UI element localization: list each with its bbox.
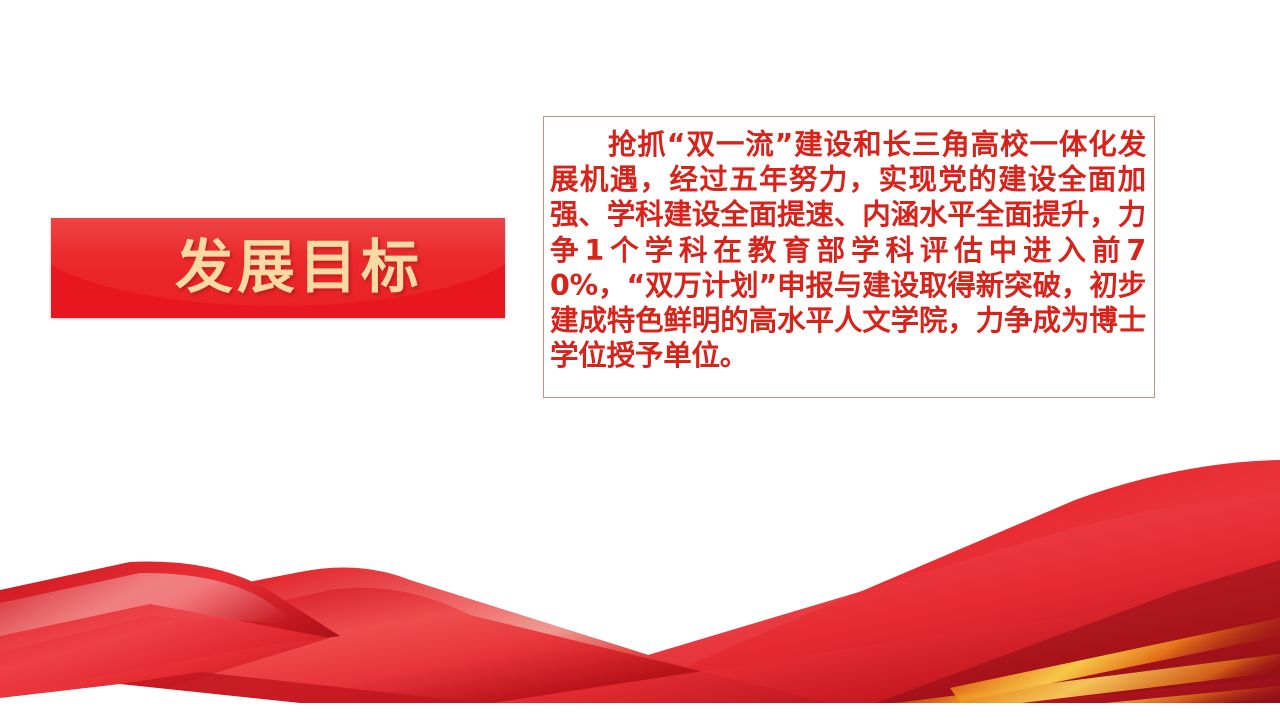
title-banner: 发展目标 xyxy=(51,218,505,318)
ribbon-band-right-upper xyxy=(560,460,1280,720)
gold-streak-upper xyxy=(950,618,1280,702)
ribbon-svg xyxy=(0,440,1280,720)
ribbon-band-center xyxy=(0,568,920,720)
ribbon-band-left-lower xyxy=(0,604,330,720)
ribbon-highlight-left xyxy=(0,573,300,652)
ribbon-band-center-lower xyxy=(0,588,900,720)
ribbon-band-bottom-left xyxy=(0,672,640,720)
content-paragraph: 抢抓“双一流”建设和长三角高校一体化发展机遇，经过五年努力，实现党的建设全面加强… xyxy=(550,127,1146,373)
ribbon-band-right-mid xyxy=(430,498,1280,720)
ribbon-band-bottom-right xyxy=(380,590,1280,720)
content-text-box: 抢抓“双一流”建设和长三角高校一体化发展机遇，经过五年努力，实现党的建设全面加强… xyxy=(543,116,1155,398)
gold-streak-lower xyxy=(872,654,1280,720)
slide-title: 发展目标 xyxy=(51,218,505,318)
slide-canvas: 发展目标 抢抓“双一流”建设和长三角高校一体化发展机遇，经过五年努力，实现党的建… xyxy=(0,0,1280,720)
ribbon-band-left-curl xyxy=(0,562,340,695)
bottom-white-wedge xyxy=(0,684,300,703)
red-ribbon-decoration xyxy=(0,440,1280,720)
ribbon-fold-shadow xyxy=(830,560,1280,720)
gold-streak-edge xyxy=(1012,686,1280,720)
bottom-white-strip xyxy=(0,703,1280,720)
